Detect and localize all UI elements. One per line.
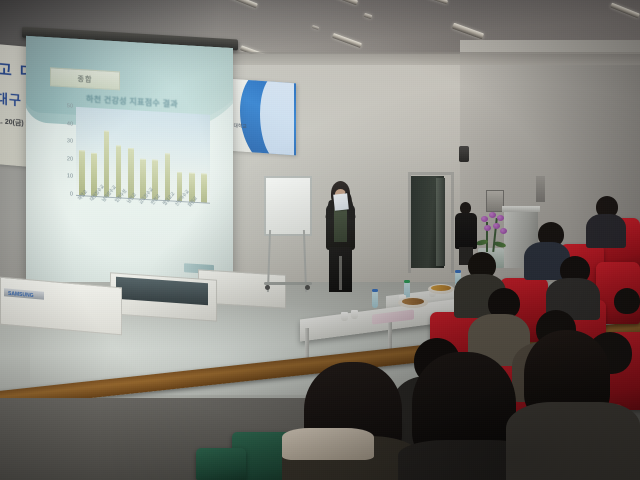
bottle-cap [372, 289, 378, 292]
presenter-shirt [334, 208, 347, 242]
wall-speaker [459, 146, 469, 162]
orchid-flower [500, 228, 507, 234]
presenter-leg-gap [339, 256, 342, 290]
bottle-cap [455, 270, 461, 273]
paper-cup [351, 310, 358, 319]
bottle-cap [404, 280, 410, 283]
screen-vignette [26, 36, 233, 298]
whiteboard-wheel [265, 285, 270, 290]
food-items [402, 298, 424, 305]
photograph-scene: 고 대 대구 · 1. 20(금) 1 표회 표회 대학교 한경대학교 종합 하… [0, 0, 640, 480]
foreground-person-shoulders [506, 402, 640, 480]
food-items [431, 285, 451, 291]
mobile-whiteboard [264, 176, 312, 236]
presenter-script-paper [333, 193, 349, 210]
orchid-flower [481, 216, 488, 222]
door-leaf [436, 178, 445, 266]
audience-head [614, 288, 640, 314]
water-bottle [372, 291, 378, 308]
paper-cup [341, 312, 348, 321]
whiteboard-wheel [305, 285, 310, 290]
orchid-flower [489, 212, 496, 218]
banner-swoosh-highlight [260, 77, 294, 156]
orchid-flower [484, 225, 491, 231]
orchid-flower [497, 215, 504, 221]
front-row-seat [196, 448, 246, 480]
audience-torso [586, 214, 626, 248]
whiteboard-base-bar [264, 282, 312, 285]
attendee-torso [455, 213, 477, 249]
foreground-person-scarf [282, 428, 374, 460]
lectern-top [502, 206, 540, 212]
wall-panel [536, 176, 545, 202]
door-frame [408, 172, 454, 273]
orchid-flower [493, 223, 500, 229]
screen-surface: 종합 하천 건강성 지표점수 결과 50403020100 하양교대천잠수교남하… [26, 36, 233, 298]
